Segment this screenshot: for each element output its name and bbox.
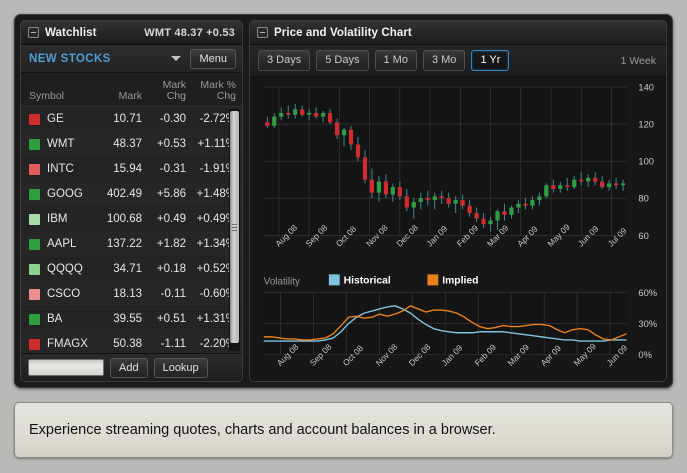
chart-interval-label: 1 Week	[621, 55, 658, 67]
row-mark-chg: +0.18	[142, 264, 186, 275]
candle-body	[593, 178, 597, 182]
row-mark-chg: -0.11	[142, 289, 186, 300]
watchlist-rows: GE10.71-0.30-2.72%WMT48.37+0.53+1.11%INT…	[21, 107, 242, 353]
candle-body	[544, 185, 548, 196]
candle-body	[265, 122, 269, 126]
watchlist-column-headers: Symbol Mark Mark Chg Mark % Chg	[21, 73, 242, 107]
candle-body	[328, 113, 332, 122]
chart-range-toolbar: 3 Days5 Days1 Mo3 Mo1 Yr 1 Week	[250, 45, 666, 77]
row-symbol: IBM	[47, 213, 94, 225]
row-mark-chg: +0.53	[142, 139, 186, 150]
row-mark: 34.71	[94, 263, 142, 275]
screenshot-root: Watchlist WMT 48.37 +0.53 NEW STOCKS Men…	[0, 0, 687, 473]
candle-body	[495, 211, 499, 220]
candle-body	[586, 178, 590, 182]
chart-panel: Price and Volatility Chart 3 Days5 Days1…	[249, 20, 667, 382]
price-ytick-label: 140	[638, 82, 654, 93]
row-color-swatch	[29, 214, 40, 225]
price-ytick-label: 80	[638, 194, 648, 205]
row-mark: 402.49	[94, 188, 142, 200]
candle-body	[356, 144, 360, 157]
candle-body	[286, 113, 290, 115]
candle-body	[523, 204, 527, 206]
row-mark-chg: -0.31	[142, 164, 186, 175]
scrollbar-grip-icon	[232, 224, 237, 231]
candle-body	[426, 198, 430, 200]
candle-body	[293, 109, 297, 115]
row-mark-chg: +1.82	[142, 239, 186, 250]
table-row[interactable]: CSCO18.13-0.11-0.60%	[21, 282, 242, 307]
row-color-swatch	[29, 189, 40, 200]
column-header-mark-pct-line2: Chg	[186, 91, 236, 102]
candle-body	[433, 196, 437, 200]
candle-body	[454, 200, 458, 204]
range-button-3-mo[interactable]: 3 Mo	[423, 50, 465, 71]
row-mark-chg: -0.30	[142, 114, 186, 125]
candle-body	[579, 180, 583, 182]
candle-body	[509, 207, 513, 214]
row-color-swatch	[29, 289, 40, 300]
candle-body	[440, 196, 444, 198]
row-color-swatch	[29, 139, 40, 150]
row-mark-chg: +0.49	[142, 214, 186, 225]
row-symbol: QQQQ	[47, 263, 94, 275]
candle-body	[621, 183, 625, 185]
candle-body	[614, 183, 618, 185]
table-row[interactable]: FMAGX50.38-1.11-2.20%	[21, 332, 242, 353]
row-symbol: CSCO	[47, 288, 94, 300]
symbol-input[interactable]	[28, 359, 104, 376]
row-mark-chg: +0.51	[142, 314, 186, 325]
chart-titlebar: Price and Volatility Chart	[250, 21, 666, 45]
collapse-minus-icon[interactable]	[257, 27, 268, 38]
chart-title: Price and Volatility Chart	[274, 27, 412, 39]
volatility-axis-label: Volatility	[264, 276, 300, 287]
candle-body	[419, 198, 423, 202]
watchlist-scrollbar-thumb[interactable]	[230, 111, 239, 343]
watchlist-titlebar: Watchlist WMT 48.37 +0.53	[21, 21, 242, 45]
watchlist-panel: Watchlist WMT 48.37 +0.53 NEW STOCKS Men…	[20, 20, 243, 382]
price-ytick-label: 120	[638, 120, 654, 131]
watchlist-list-dropdown[interactable]: NEW STOCKS	[29, 49, 185, 68]
row-color-swatch	[29, 339, 40, 350]
range-button-5-days[interactable]: 5 Days	[316, 50, 368, 71]
candle-body	[321, 113, 325, 117]
row-symbol: WMT	[47, 138, 94, 150]
column-header-mark-chg-line2: Chg	[142, 91, 186, 102]
volatility-ytick-label: 0%	[638, 350, 652, 361]
column-header-mark: Mark	[94, 90, 142, 102]
candle-body	[607, 183, 611, 187]
trading-app-window: Watchlist WMT 48.37 +0.53 NEW STOCKS Men…	[14, 14, 673, 388]
row-mark: 15.94	[94, 163, 142, 175]
table-row[interactable]: AAPL137.22+1.82+1.34%	[21, 232, 242, 257]
row-symbol: GE	[47, 113, 94, 125]
candle-body	[279, 113, 283, 117]
caption-text: Experience streaming quotes, charts and …	[29, 422, 496, 438]
candle-body	[474, 213, 478, 219]
row-mark: 10.71	[94, 113, 142, 125]
row-color-swatch	[29, 164, 40, 175]
candle-body	[502, 211, 506, 215]
candle-body	[516, 204, 520, 208]
legend-label-implied: Implied	[442, 275, 478, 286]
collapse-minus-icon[interactable]	[28, 27, 39, 38]
column-header-mark-pct: Mark % Chg	[186, 80, 236, 102]
row-symbol: GOOG	[47, 188, 94, 200]
price-ytick-label: 100	[638, 157, 654, 168]
row-mark-chg: +5.86	[142, 189, 186, 200]
candle-body	[384, 182, 388, 195]
price-ytick-label: 60	[638, 231, 648, 242]
candle-body	[461, 200, 465, 206]
candle-body	[363, 157, 367, 179]
candle-body	[537, 196, 541, 200]
table-row[interactable]: QQQQ34.71+0.18+0.52%	[21, 257, 242, 282]
caption-bar: Experience streaming quotes, charts and …	[14, 402, 673, 458]
row-mark-chg: -1.11	[142, 339, 186, 350]
range-button-1-mo[interactable]: 1 Mo	[375, 50, 417, 71]
lookup-button[interactable]: Lookup	[154, 358, 208, 378]
row-symbol: INTC	[47, 163, 94, 175]
watchlist-controls: NEW STOCKS Menu	[21, 45, 242, 73]
volatility-ytick-label: 60%	[638, 288, 657, 299]
row-symbol: FMAGX	[47, 338, 94, 350]
candle-body	[600, 182, 604, 188]
row-color-swatch	[29, 314, 40, 325]
candle-body	[551, 185, 555, 189]
column-header-mark-chg: Mark Chg	[142, 80, 186, 102]
table-row[interactable]: GE10.71-0.30-2.72%	[21, 107, 242, 132]
candle-body	[572, 180, 576, 187]
table-row[interactable]: BA39.55+0.51+1.31%	[21, 307, 242, 332]
row-mark: 100.68	[94, 213, 142, 225]
row-color-swatch	[29, 264, 40, 275]
candle-body	[565, 185, 569, 187]
candle-body	[370, 180, 374, 193]
row-mark: 39.55	[94, 313, 142, 325]
candle-body	[272, 117, 276, 126]
row-color-swatch	[29, 114, 40, 125]
watchlist-scrollbar[interactable]	[229, 109, 240, 351]
table-row[interactable]: INTC15.94-0.31-1.91%	[21, 157, 242, 182]
row-mark: 137.22	[94, 238, 142, 250]
candle-body	[349, 130, 353, 145]
candle-body	[468, 206, 472, 213]
row-mark: 48.37	[94, 138, 142, 150]
chart-svg[interactable]: 6080100120140Aug 08Sep 08Oct 08Nov 08Dec…	[250, 77, 666, 382]
chart-body: 6080100120140Aug 08Sep 08Oct 08Nov 08Dec…	[250, 77, 666, 382]
table-row[interactable]: IBM100.68+0.49+0.49%	[21, 207, 242, 232]
watchlist-list-name: NEW STOCKS	[29, 53, 111, 65]
candle-body	[447, 198, 451, 204]
candle-body	[398, 187, 402, 196]
candle-body	[412, 202, 416, 208]
volatility-ytick-label: 30%	[638, 319, 657, 330]
candle-body	[405, 196, 409, 207]
add-button[interactable]: Add	[110, 358, 148, 378]
row-color-swatch	[29, 239, 40, 250]
candle-body	[342, 130, 346, 136]
candle-body	[314, 113, 318, 117]
watchlist-ticker-readout: WMT 48.37 +0.53	[144, 27, 235, 39]
candle-body	[481, 219, 485, 225]
watchlist-menu-button[interactable]: Menu	[190, 49, 236, 69]
legend-swatch-historical	[329, 274, 340, 285]
column-header-symbol: Symbol	[29, 90, 94, 102]
candle-body	[300, 109, 304, 115]
row-symbol: BA	[47, 313, 94, 325]
row-mark: 18.13	[94, 288, 142, 300]
candle-body	[377, 182, 381, 193]
row-mark: 50.38	[94, 338, 142, 350]
legend-swatch-implied	[427, 274, 438, 285]
candle-body	[530, 200, 534, 206]
legend-label-historical: Historical	[344, 275, 391, 286]
candle-body	[488, 220, 492, 224]
candle-body	[335, 122, 339, 135]
candle-body	[391, 187, 395, 194]
row-symbol: AAPL	[47, 238, 94, 250]
watchlist-title: Watchlist	[45, 27, 97, 39]
watchlist-footer: Add Lookup	[21, 353, 242, 381]
candle-body	[558, 185, 562, 189]
chevron-down-icon	[171, 56, 181, 61]
range-button-3-days[interactable]: 3 Days	[258, 50, 310, 71]
table-row[interactable]: GOOG402.49+5.86+1.48%	[21, 182, 242, 207]
table-row[interactable]: WMT48.37+0.53+1.11%	[21, 132, 242, 157]
range-button-1-yr[interactable]: 1 Yr	[471, 50, 509, 71]
candle-body	[307, 113, 311, 115]
